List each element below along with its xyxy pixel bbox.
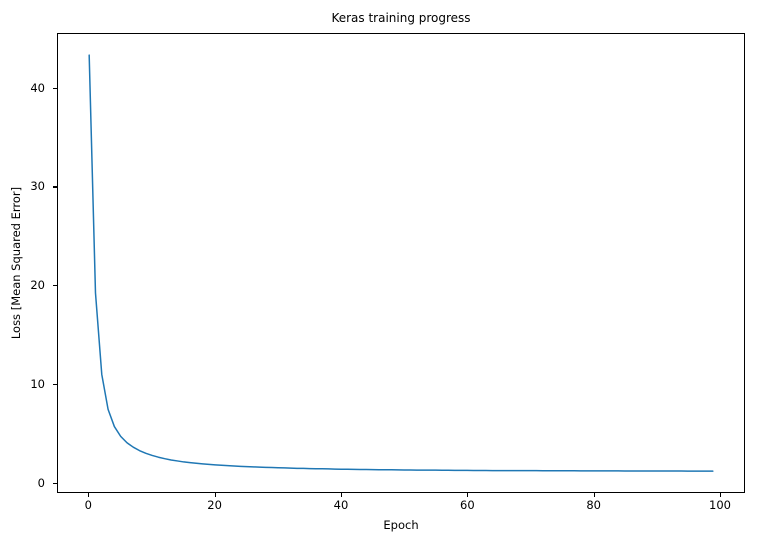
x-tick-mark bbox=[215, 493, 216, 497]
loss-line-series bbox=[89, 55, 713, 471]
y-tick-mark bbox=[53, 186, 57, 187]
y-tick-label: 40 bbox=[1, 82, 45, 94]
y-tick-mark bbox=[53, 285, 57, 286]
matplotlib-figure: Keras training progress Loss [Mean Squar… bbox=[0, 0, 764, 547]
x-tick-label: 80 bbox=[564, 499, 624, 511]
y-tick-mark bbox=[53, 384, 57, 385]
y-tick-label: 10 bbox=[1, 378, 45, 390]
x-tick-mark bbox=[467, 493, 468, 497]
y-tick-label: 30 bbox=[1, 180, 45, 192]
x-tick-label: 60 bbox=[437, 499, 497, 511]
loss-curve-svg bbox=[58, 34, 744, 492]
x-axis-label: Epoch bbox=[57, 518, 745, 532]
x-tick-mark bbox=[594, 493, 595, 497]
y-tick-mark bbox=[53, 88, 57, 89]
y-tick-label: 20 bbox=[1, 279, 45, 291]
chart-title: Keras training progress bbox=[57, 10, 745, 26]
y-axis-ticks: 010203040 bbox=[0, 33, 53, 493]
x-tick-label: 20 bbox=[185, 499, 245, 511]
x-tick-mark bbox=[720, 493, 721, 497]
x-tick-label: 0 bbox=[58, 499, 118, 511]
plot-area bbox=[57, 33, 745, 493]
y-tick-label: 0 bbox=[1, 477, 45, 489]
x-tick-label: 40 bbox=[311, 499, 371, 511]
x-tick-mark bbox=[88, 493, 89, 497]
x-tick-mark bbox=[341, 493, 342, 497]
y-tick-mark bbox=[53, 483, 57, 484]
x-tick-label: 100 bbox=[690, 499, 750, 511]
